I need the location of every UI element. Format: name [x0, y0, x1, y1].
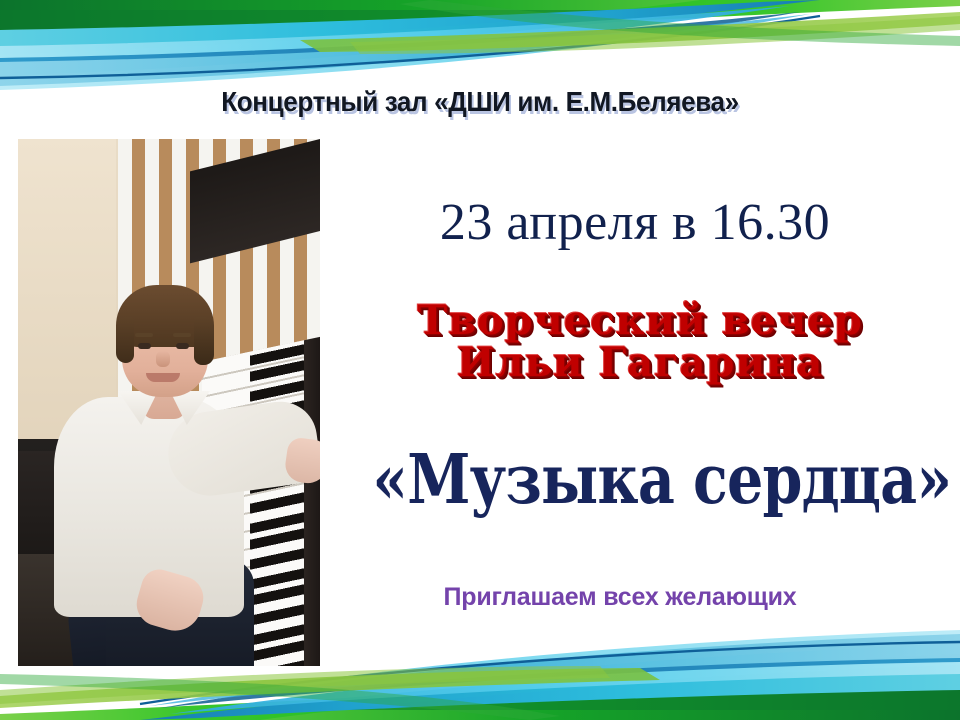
- photo-eye-right: [176, 343, 189, 349]
- venue-title: Концертный зал «ДШИ им. Е.М.Беляева»: [34, 86, 927, 118]
- poster-canvas: Концертный зал «ДШИ им. Е.М.Беляева» 23 …: [0, 0, 960, 720]
- photo-nose: [156, 351, 170, 367]
- event-headline: Творческий вечер Ильи Гагарина: [330, 300, 950, 384]
- photo-inner: [18, 139, 320, 666]
- photo-hair-right: [194, 317, 214, 365]
- photo-person: [18, 139, 320, 666]
- program-title: «Музыка сердца»: [372, 440, 901, 520]
- invitation-text: Приглашаем всех желающих: [360, 583, 880, 612]
- performer-photo: [18, 139, 320, 666]
- photo-hair-left: [116, 317, 134, 363]
- event-headline-line1: Творческий вечер: [330, 300, 950, 342]
- event-date: 23 апреля в 16.30: [340, 193, 930, 252]
- photo-mouth: [146, 373, 180, 382]
- photo-brow-left: [135, 333, 153, 337]
- photo-brow-right: [173, 333, 191, 337]
- event-headline-line2: Ильи Гагарина: [330, 342, 950, 384]
- photo-eye-left: [138, 343, 151, 349]
